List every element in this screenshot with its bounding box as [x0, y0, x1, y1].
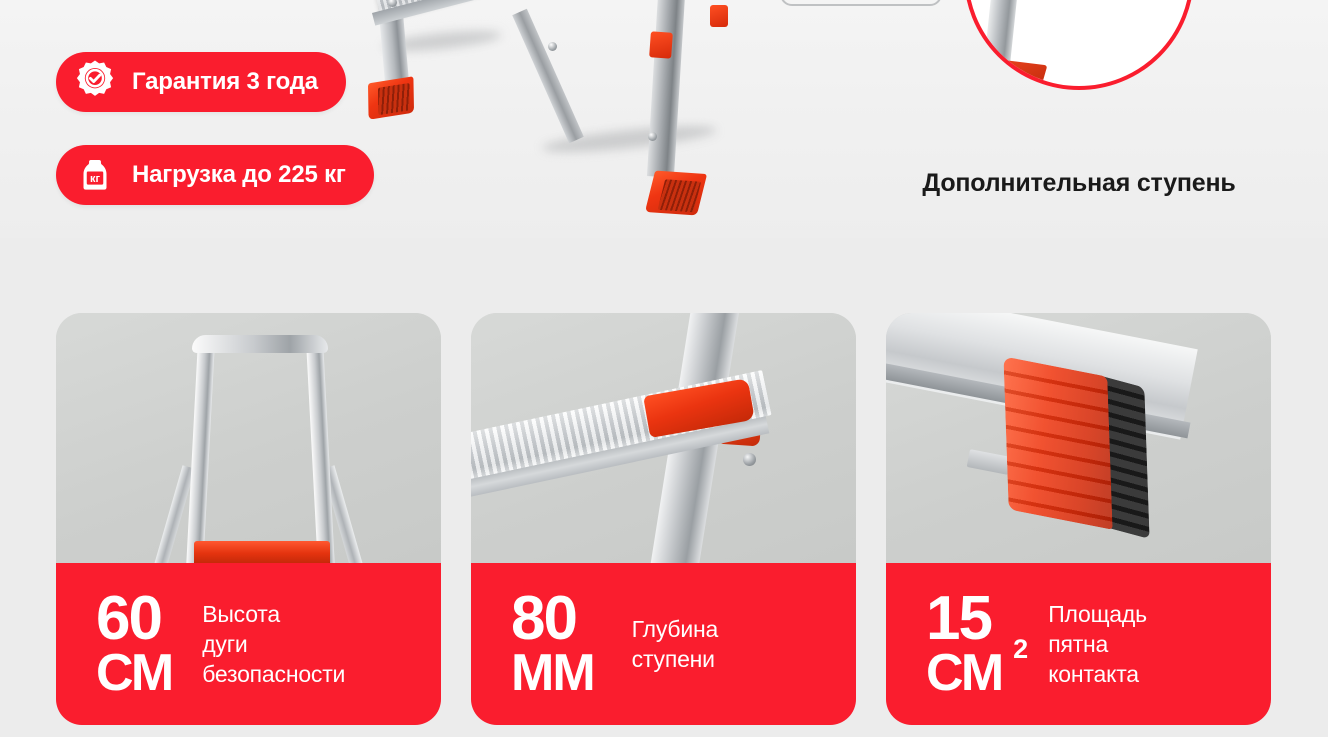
feature-card-contact-patch: 15 СМ 2 Площадь пятна контакта	[886, 313, 1271, 725]
metal-tab	[967, 449, 1012, 475]
feature-description-line: пятна	[1048, 629, 1147, 659]
feature-unit-superscript: 2	[1013, 637, 1028, 663]
feature-description-line: Глубина	[632, 614, 718, 644]
feature-card-strip: 15 СМ 2 Площадь пятна контакта	[886, 563, 1271, 725]
red-foot-cap	[368, 76, 414, 120]
feature-number: 80	[511, 590, 594, 649]
safety-arch-photo	[56, 313, 441, 563]
hero-section: Дополнительная ступень Гарантия 3 года к…	[0, 0, 1328, 238]
feature-unit: СМ	[96, 649, 172, 698]
feature-card-step-depth: 80 ММ Глубина ступени	[471, 313, 856, 725]
arch-tube-top	[192, 335, 328, 353]
arch-tube-left	[186, 343, 215, 563]
foot-grip	[378, 83, 410, 115]
feature-unit: ММ	[511, 649, 594, 698]
feature-description: Площадь пятна контакта	[1048, 599, 1147, 689]
arch-tube-right	[306, 343, 335, 563]
feature-description-line: дуги	[202, 629, 345, 659]
weight-kg-icon: кг	[72, 152, 118, 198]
feature-value: 60 СМ	[96, 590, 172, 698]
feature-number: 15	[926, 590, 1002, 649]
feature-description: Глубина ступени	[632, 614, 718, 674]
rivet	[648, 132, 657, 141]
feature-description-line: Площадь	[1048, 599, 1147, 629]
svg-text:кг: кг	[90, 173, 100, 185]
red-clip	[710, 5, 728, 27]
feature-description: Высота дуги безопасности	[202, 599, 345, 689]
rivet-hole	[743, 453, 756, 466]
red-foot-cap	[645, 170, 707, 215]
feature-value: 80 ММ	[511, 590, 594, 698]
warranty-badge-label: Гарантия 3 года	[132, 68, 318, 96]
cut-off-outline-box	[780, 0, 942, 6]
feature-card-strip: 80 ММ Глубина ступени	[471, 563, 856, 725]
feature-description-line: ступени	[632, 644, 718, 674]
warranty-rosette-icon	[72, 59, 118, 105]
feature-description-line: Высота	[202, 599, 345, 629]
feature-description-line: контакта	[1048, 659, 1147, 689]
feature-description-line: безопасности	[202, 659, 345, 689]
red-clip	[649, 31, 673, 58]
feature-number: 60	[96, 590, 172, 649]
foot-cap-contact-patch-photo	[886, 313, 1271, 563]
safety-arch	[176, 335, 346, 563]
rear-stile	[647, 0, 688, 178]
rivet	[548, 42, 557, 51]
feature-card-strip: 60 СМ Высота дуги безопасности	[56, 563, 441, 725]
warranty-badge: Гарантия 3 года	[56, 52, 346, 112]
feature-card-safety-arch: 60 СМ Высота дуги безопасности	[56, 313, 441, 725]
feature-unit: СМ 2	[926, 649, 1002, 698]
stepladder-legs-photo	[392, 0, 722, 170]
red-step	[194, 541, 330, 563]
load-capacity-badge-label: Нагрузка до 225 кг	[132, 161, 346, 189]
extra-step-caption: Дополнительная ступень	[903, 166, 1255, 201]
load-capacity-badge: кг Нагрузка до 225 кг	[56, 145, 374, 205]
step-depth-closeup-photo	[471, 313, 856, 563]
feature-value: 15 СМ 2	[926, 590, 1002, 698]
diagonal-brace	[512, 9, 584, 143]
red-foot-cap	[1003, 356, 1112, 529]
foot-grip	[658, 179, 702, 212]
feature-cards-row: 60 СМ Высота дуги безопасности 80	[0, 313, 1328, 725]
